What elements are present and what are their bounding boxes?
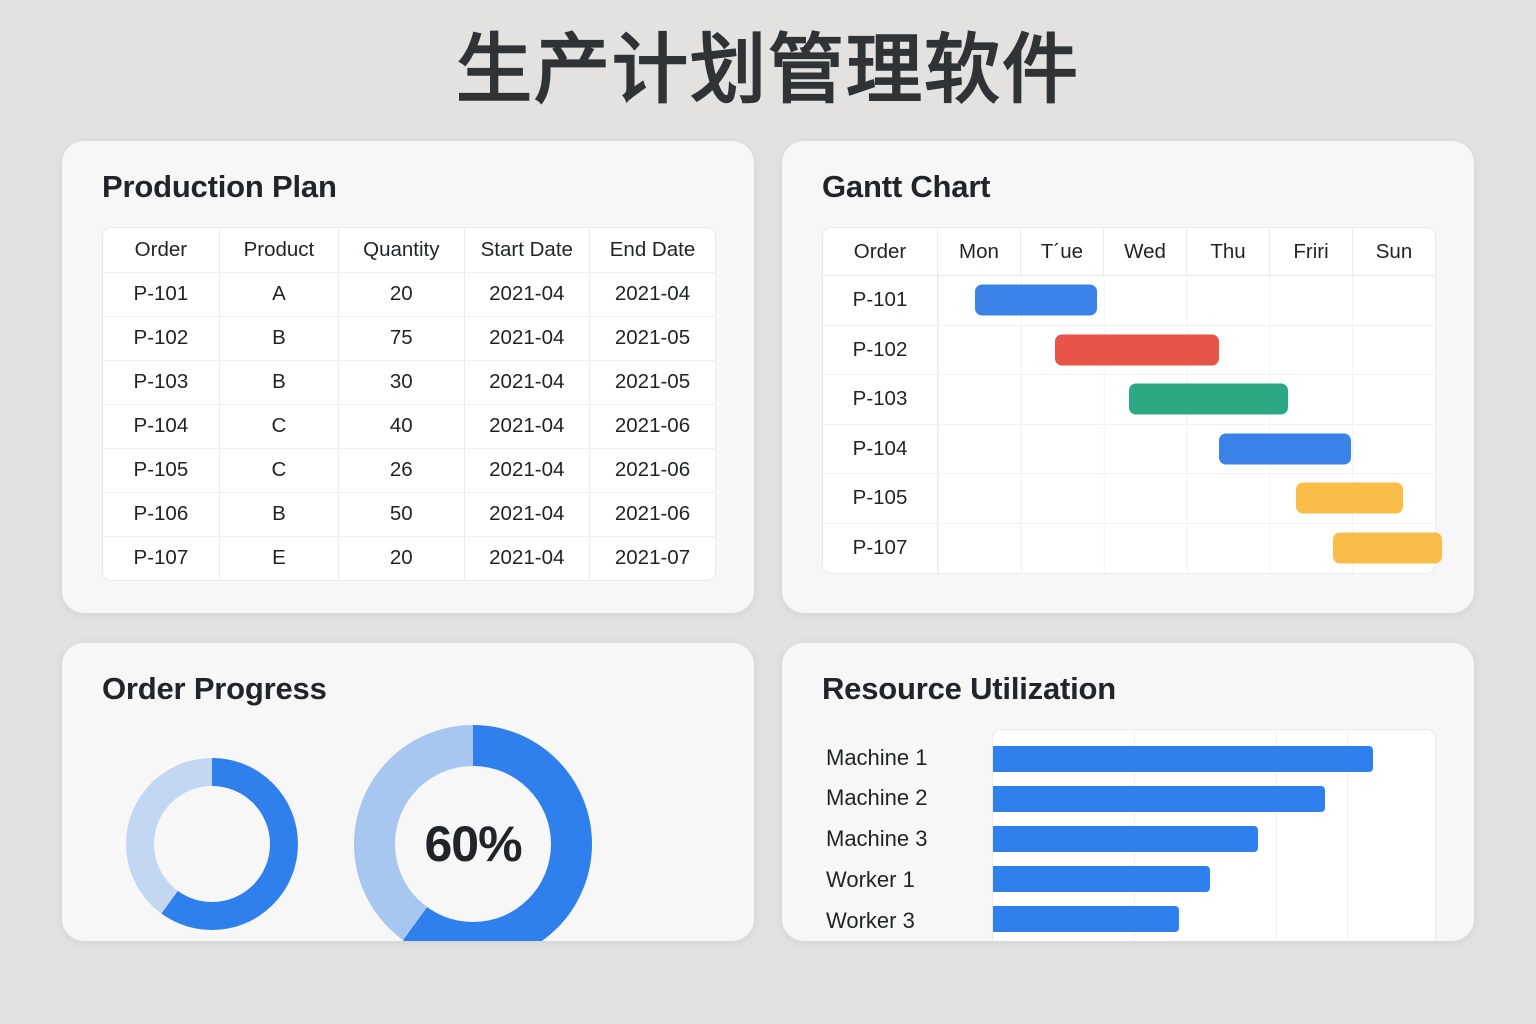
dashboard-grid: Production Plan Order Product Quantity S… (0, 113, 1536, 941)
gantt-row[interactable]: P-105 (823, 474, 1435, 524)
gantt-bar[interactable] (1129, 384, 1288, 415)
resource-bar[interactable] (993, 786, 1325, 812)
table-row[interactable]: P-106 B 50 2021-04 2021-06 (103, 492, 715, 536)
cell-product: A (219, 272, 338, 316)
cell-product: C (219, 404, 338, 448)
gantt-track (938, 524, 1435, 574)
table-row[interactable]: P-107 E 20 2021-04 2021-07 (103, 536, 715, 580)
donut-hole (154, 786, 270, 902)
gantt-chart-title: Gantt Chart (822, 169, 1436, 205)
resource-label-machine-2: Machine 2 (826, 778, 992, 818)
cell-end-date: 2021-05 (590, 360, 716, 404)
gantt-row-label: P-103 (823, 375, 938, 424)
cell-quantity: 75 (339, 316, 464, 360)
cell-order: P-105 (103, 448, 219, 492)
order-progress-body: 60% (102, 725, 716, 941)
gantt-bar[interactable] (975, 285, 1097, 316)
column-header-start-date[interactable]: Start Date (464, 228, 589, 272)
resource-axis-labels: Machine 1 Machine 2 Machine 3 Worker 1 W… (822, 729, 992, 941)
table-header-row: Order Product Quantity Start Date End Da… (103, 228, 715, 272)
page-title: 生产计划管理软件 (0, 0, 1536, 113)
cell-quantity: 50 (339, 492, 464, 536)
order-progress-donut-large[interactable]: 60% (354, 725, 592, 941)
gantt-column-header-tue[interactable]: T´ue (1021, 228, 1104, 275)
gantt-row-label: P-104 (823, 425, 938, 474)
gantt-header-row: Order Mon T´ue Wed Thu Friri Sun (823, 228, 1435, 276)
column-header-product[interactable]: Product (219, 228, 338, 272)
table-row[interactable]: P-105 C 26 2021-04 2021-06 (103, 448, 715, 492)
gantt-chart-wrapper: Order Mon T´ue Wed Thu Friri Sun P-101 P… (822, 227, 1436, 574)
resource-utilization-plot (992, 729, 1436, 941)
resource-label-machine-1: Machine 1 (826, 738, 992, 778)
cell-end-date: 2021-06 (590, 492, 716, 536)
cell-end-date: 2021-06 (590, 404, 716, 448)
order-progress-title: Order Progress (102, 671, 716, 707)
gantt-column-header-mon[interactable]: Mon (938, 228, 1021, 275)
gantt-column-header-thu[interactable]: Thu (1187, 228, 1270, 275)
gantt-bar[interactable] (1296, 483, 1403, 514)
table-row[interactable]: P-101 A 20 2021-04 2021-04 (103, 272, 715, 316)
resource-bar[interactable] (993, 826, 1258, 852)
gantt-row[interactable]: P-103 (823, 375, 1435, 425)
gantt-row-label: P-102 (823, 326, 938, 375)
donut-hole: 60% (395, 766, 551, 922)
gantt-row[interactable]: P-102 (823, 326, 1435, 376)
gantt-row-label: P-107 (823, 524, 938, 574)
resource-utilization-body: Machine 1 Machine 2 Machine 3 Worker 1 W… (822, 729, 1436, 941)
gantt-row-label: P-105 (823, 474, 938, 523)
cell-order: P-103 (103, 360, 219, 404)
gantt-track (938, 375, 1435, 424)
cell-start-date: 2021-04 (464, 448, 589, 492)
gantt-track (938, 474, 1435, 523)
order-progress-card: Order Progress 60% (62, 643, 754, 941)
cell-quantity: 26 (339, 448, 464, 492)
gantt-column-header-sun[interactable]: Sun (1353, 228, 1435, 275)
gantt-column-header-fri[interactable]: Friri (1270, 228, 1353, 275)
gantt-row[interactable]: P-104 (823, 425, 1435, 475)
gantt-column-header-wed[interactable]: Wed (1104, 228, 1187, 275)
column-header-end-date[interactable]: End Date (590, 228, 716, 272)
cell-start-date: 2021-04 (464, 316, 589, 360)
cell-order: P-107 (103, 536, 219, 580)
cell-end-date: 2021-04 (590, 272, 716, 316)
gantt-row[interactable]: P-101 (823, 276, 1435, 326)
cell-end-date: 2021-05 (590, 316, 716, 360)
production-plan-card: Production Plan Order Product Quantity S… (62, 141, 754, 613)
gantt-column-header-order[interactable]: Order (823, 228, 938, 275)
gantt-bar[interactable] (1219, 433, 1351, 464)
gantt-track (938, 276, 1435, 325)
gantt-chart-card: Gantt Chart Order Mon T´ue Wed Thu Friri… (782, 141, 1474, 613)
gantt-bar[interactable] (1055, 334, 1219, 365)
gantt-track (938, 326, 1435, 375)
cell-quantity: 30 (339, 360, 464, 404)
table-row[interactable]: P-102 B 75 2021-04 2021-05 (103, 316, 715, 360)
order-progress-percent-label: 60% (424, 815, 521, 873)
cell-start-date: 2021-04 (464, 272, 589, 316)
gantt-track (938, 425, 1435, 474)
cell-end-date: 2021-07 (590, 536, 716, 580)
production-plan-table-wrapper: Order Product Quantity Start Date End Da… (102, 227, 716, 581)
resource-bar-row[interactable] (993, 859, 1435, 899)
cell-start-date: 2021-04 (464, 536, 589, 580)
resource-utilization-card: Resource Utilization Machine 1 Machine 2… (782, 643, 1474, 941)
production-plan-table: Order Product Quantity Start Date End Da… (103, 228, 715, 580)
resource-bar[interactable] (993, 906, 1179, 932)
cell-product: E (219, 536, 338, 580)
cell-order: P-106 (103, 492, 219, 536)
resource-label-worker-1: Worker 1 (826, 860, 992, 900)
cell-start-date: 2021-04 (464, 360, 589, 404)
cell-end-date: 2021-06 (590, 448, 716, 492)
cell-start-date: 2021-04 (464, 492, 589, 536)
cell-quantity: 20 (339, 536, 464, 580)
cell-start-date: 2021-04 (464, 404, 589, 448)
resource-bar-row[interactable] (993, 779, 1435, 819)
resource-bar[interactable] (993, 866, 1210, 892)
gantt-row-label: P-101 (823, 276, 938, 325)
cell-product: B (219, 360, 338, 404)
cell-product: B (219, 492, 338, 536)
column-header-quantity[interactable]: Quantity (339, 228, 464, 272)
resource-bar-row[interactable] (993, 739, 1435, 779)
cell-quantity: 40 (339, 404, 464, 448)
resource-label-worker-3: Worker 3 (826, 901, 992, 941)
production-plan-title: Production Plan (102, 169, 716, 205)
cell-order: P-101 (103, 272, 219, 316)
cell-product: C (219, 448, 338, 492)
resource-bar-row[interactable] (993, 819, 1435, 859)
gantt-bar[interactable] (1333, 533, 1442, 564)
resource-utilization-title: Resource Utilization (822, 671, 1436, 707)
table-row[interactable]: P-103 B 30 2021-04 2021-05 (103, 360, 715, 404)
table-row[interactable]: P-104 C 40 2021-04 2021-06 (103, 404, 715, 448)
resource-label-machine-3: Machine 3 (826, 819, 992, 859)
cell-quantity: 20 (339, 272, 464, 316)
column-header-order[interactable]: Order (103, 228, 219, 272)
cell-order: P-102 (103, 316, 219, 360)
cell-order: P-104 (103, 404, 219, 448)
order-progress-donut-small[interactable] (126, 758, 298, 930)
cell-product: B (219, 316, 338, 360)
gantt-row[interactable]: P-107 (823, 524, 1435, 574)
resource-bar-row[interactable] (993, 899, 1435, 939)
resource-bar[interactable] (993, 746, 1373, 772)
